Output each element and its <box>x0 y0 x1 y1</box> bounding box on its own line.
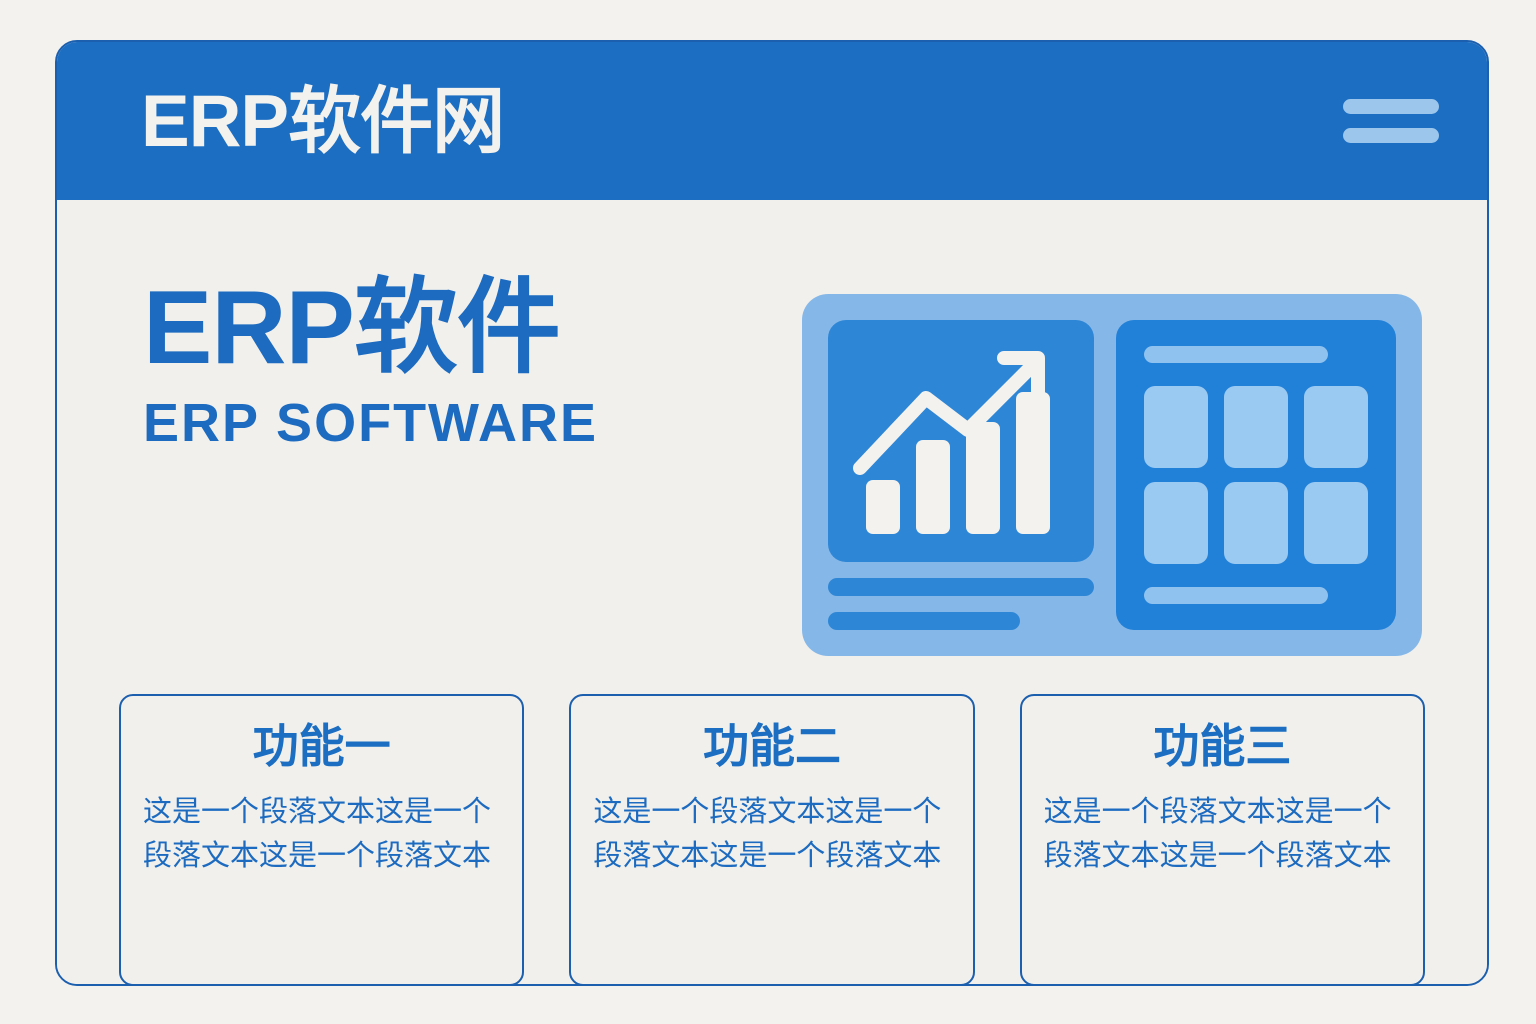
grid-tile-4 <box>1144 482 1208 564</box>
grid-tile-5 <box>1224 482 1288 564</box>
grid-tiles <box>1144 386 1368 564</box>
feature-card-title: 功能二 <box>593 718 950 776</box>
feature-card-3[interactable]: 功能三 这是一个段落文本这是一个段落文本这是一个段落文本 <box>1020 694 1425 986</box>
illustration-text-line-2 <box>828 612 1020 630</box>
hero-subtitle: ERP SOFTWARE <box>143 391 803 456</box>
page-content: ERP软件 ERP SOFTWARE <box>57 200 1487 984</box>
feature-card-body: 这是一个段落文本这是一个段落文本这是一个段落文本 <box>1044 790 1401 880</box>
illustration-left-column <box>828 320 1094 630</box>
hero-section: ERP软件 ERP SOFTWARE <box>143 274 803 456</box>
site-header: ERP软件网 <box>57 42 1487 200</box>
illustration-text-line-1 <box>828 578 1094 596</box>
page-frame: ERP软件网 ERP软件 ERP SOFTWARE <box>55 40 1489 986</box>
feature-card-list: 功能一 这是一个段落文本这是一个段落文本这是一个段落文本 功能二 这是一个段落文… <box>119 694 1425 986</box>
feature-card-title: 功能三 <box>1044 718 1401 776</box>
hamburger-bar-1 <box>1343 99 1439 114</box>
grid-tile-1 <box>1144 386 1208 468</box>
bar-chart-svg <box>828 320 1094 562</box>
feature-card-2[interactable]: 功能二 这是一个段落文本这是一个段落文本这是一个段落文本 <box>569 694 974 986</box>
feature-card-body: 这是一个段落文本这是一个段落文本这是一个段落文本 <box>593 790 950 880</box>
grid-tile-3 <box>1304 386 1368 468</box>
app-grid-icon <box>1116 320 1396 630</box>
feature-card-1[interactable]: 功能一 这是一个段落文本这是一个段落文本这是一个段落文本 <box>119 694 524 986</box>
erp-dashboard-illustration <box>802 294 1422 656</box>
grid-header-bar <box>1144 346 1328 363</box>
feature-card-body: 这是一个段落文本这是一个段落文本这是一个段落文本 <box>143 790 500 880</box>
bar-chart-growth-icon <box>828 320 1094 562</box>
grid-footer-bar <box>1144 587 1328 604</box>
hamburger-bar-2 <box>1343 128 1439 143</box>
feature-card-title: 功能一 <box>143 718 500 776</box>
grid-tile-6 <box>1304 482 1368 564</box>
site-brand-title: ERP软件网 <box>141 85 504 158</box>
hamburger-menu-icon[interactable] <box>1343 99 1439 143</box>
hero-title: ERP软件 <box>143 274 803 383</box>
grid-tile-2 <box>1224 386 1288 468</box>
